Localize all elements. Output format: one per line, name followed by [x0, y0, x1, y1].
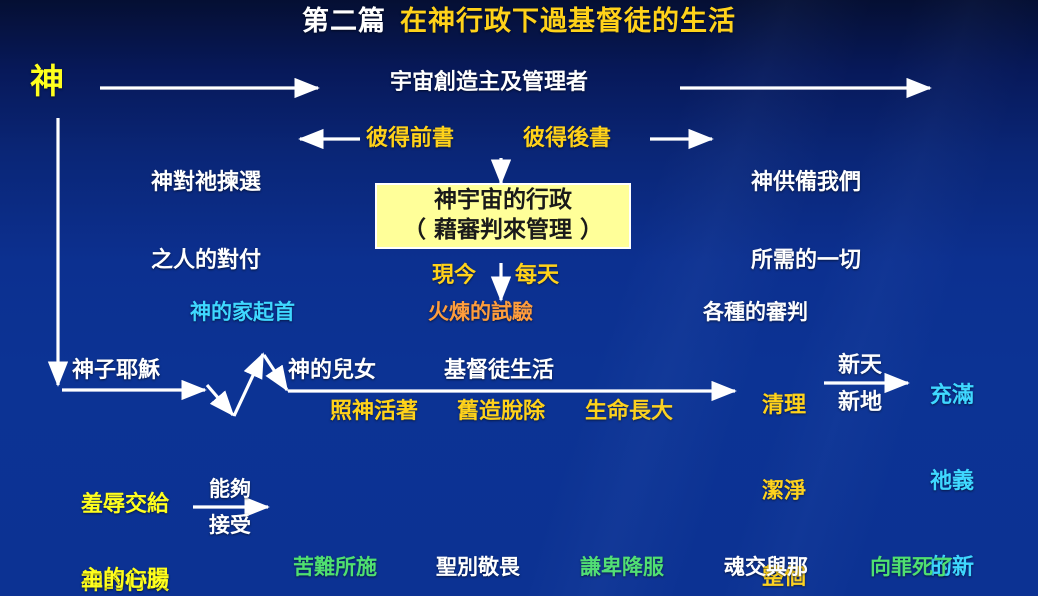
label-dealing-with-chosen: 神對祂揀選 之人的對付 — [118, 118, 294, 326]
page-title: 第二篇在神行政下過基督徒的生活 — [0, 6, 1038, 38]
filled-line-1: 充滿 — [918, 382, 986, 411]
heart-line-1: 主的心腸 — [58, 567, 192, 593]
label-god: 神 — [30, 62, 64, 102]
label-son-of-god-jesus: 神子耶穌 — [72, 358, 160, 384]
label-new-earth: 新地 — [824, 390, 896, 416]
bottom-group-dead-to-sin: 向罪死了 向義活著 — [852, 477, 972, 596]
title-part-1: 第二篇 — [302, 6, 386, 37]
bottom-group-suffering-line-1: 苦難所施 — [275, 549, 395, 585]
label-receive: 接受 — [196, 513, 264, 538]
bottom-group-humble-submission-line-1: 謙卑降服 — [562, 549, 682, 585]
label-old-creation-removed: 舊造脫除 — [457, 399, 545, 425]
label-heart-one-with-god: 主的心腸 與神是一 — [58, 515, 192, 596]
center-box-gods-administration: 神宇宙的行政 （ 藉審判來管理 ） — [375, 183, 631, 249]
bottom-group-suffering: 苦難所施 行政對付 — [275, 477, 395, 596]
bottom-group-commit-soul: 魂交與那 信實的主 — [706, 477, 826, 596]
bottom-group-humble-submission: 謙卑降服 大能的手 — [562, 477, 682, 596]
title-part-2: 在神行政下過基督徒的生活 — [400, 6, 736, 37]
label-growth-in-life: 生命長大 — [585, 399, 673, 425]
center-box-line-2: （ 藉審判來管理 ） — [403, 216, 603, 246]
label-christian-life: 基督徒生活 — [444, 358, 554, 384]
label-able-to: 能夠 — [196, 477, 264, 502]
label-children-of-god: 神的兒女 — [288, 358, 376, 384]
label-live-by-god: 照神活著 — [330, 399, 418, 425]
supplies-line-1: 神供備我們 — [718, 170, 894, 196]
label-first-peter: 彼得前書 — [366, 126, 454, 152]
label-house-of-god-begins: 神的家起首 — [190, 300, 295, 325]
arrow-zigzag-down-2 — [264, 355, 287, 390]
bottom-group-commit-soul-line-1: 魂交與那 — [706, 549, 826, 585]
dealing-line-1: 神對祂揀選 — [118, 170, 294, 196]
slide-canvas: 第二篇在神行政下過基督徒的生活 神 宇宙創造主及管理者 神對祂揀選 之人的對付 … — [0, 0, 1038, 596]
label-new-heaven: 新天 — [824, 353, 896, 379]
label-various-judgments: 各種的審判 — [703, 300, 808, 325]
cleanse-line-1: 清理 — [750, 392, 818, 421]
bottom-group-sanctified-fear-line-1: 聖別敬畏 — [418, 549, 538, 585]
arrow-zigzag-down-1 — [207, 385, 233, 415]
supplies-line-2: 所需的一切 — [718, 248, 894, 274]
dealing-line-2: 之人的對付 — [118, 248, 294, 274]
label-everyday: 每天 — [515, 263, 559, 289]
arrow-zigzag-up — [234, 354, 263, 416]
label-fiery-ordeal: 火煉的試驗 — [428, 300, 533, 325]
label-creator-and-ruler: 宇宙創造主及管理者 — [390, 70, 588, 96]
label-now: 現今 — [432, 263, 476, 289]
bottom-group-sanctified-fear: 聖別敬畏 行事為人 — [418, 477, 538, 596]
label-second-peter: 彼得後書 — [523, 126, 611, 152]
bottom-group-dead-to-sin-line-1: 向罪死了 — [852, 549, 972, 585]
label-god-supplies: 神供備我們 所需的一切 — [718, 118, 894, 326]
center-box-line-1: 神宇宙的行政 — [434, 186, 572, 216]
shame-line-1: 羞辱交給 — [58, 492, 192, 518]
